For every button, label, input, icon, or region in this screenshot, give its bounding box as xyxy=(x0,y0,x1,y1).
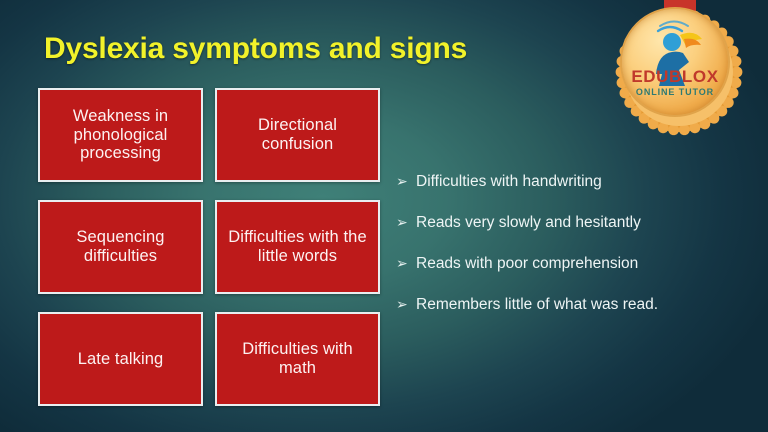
list-item: ➢ Difficulties with handwriting xyxy=(396,170,746,194)
symptom-box-label: Difficulties with math xyxy=(223,340,372,378)
badge-face: EDUBLOX ONLINE TUTOR xyxy=(620,7,730,117)
symptom-box-label: Late talking xyxy=(78,350,164,369)
symptom-box[interactable]: Sequencing difficulties xyxy=(38,200,203,294)
list-item-label: Reads very slowly and hesitantly xyxy=(416,211,746,235)
symptom-box[interactable]: Difficulties with math xyxy=(215,312,380,406)
logo-tagline: ONLINE TUTOR xyxy=(622,87,728,97)
symptom-box-grid: Weakness in phonological processing Dire… xyxy=(38,88,380,404)
list-item-label: Reads with poor comprehension xyxy=(416,252,746,276)
symptom-box[interactable]: Directional confusion xyxy=(215,88,380,182)
symptom-box-label: Directional confusion xyxy=(223,116,372,154)
list-item: ➢ Remembers little of what was read. xyxy=(396,293,746,317)
symptom-box[interactable]: Weakness in phonological processing xyxy=(38,88,203,182)
student-figure-icon xyxy=(622,9,728,115)
arrowhead-bullet-icon: ➢ xyxy=(396,252,412,274)
slide-title: Dyslexia symptoms and signs xyxy=(44,32,467,66)
logo-brand-name: EDUBLOX xyxy=(622,67,728,87)
list-item-label: Difficulties with handwriting xyxy=(416,170,746,194)
presentation-slide: Dyslexia symptoms and signs Weakness in … xyxy=(0,0,768,432)
arrowhead-bullet-icon: ➢ xyxy=(396,211,412,233)
arrowhead-bullet-icon: ➢ xyxy=(396,170,412,192)
symptom-box[interactable]: Difficulties with the little words xyxy=(215,200,380,294)
symptom-box-label: Sequencing difficulties xyxy=(46,228,195,266)
symptom-box[interactable]: Late talking xyxy=(38,312,203,406)
list-item: ➢ Reads very slowly and hesitantly xyxy=(396,211,746,235)
arrowhead-bullet-icon: ➢ xyxy=(396,293,412,315)
symptom-box-label: Difficulties with the little words xyxy=(223,228,372,266)
symptom-box-label: Weakness in phonological processing xyxy=(46,107,195,163)
edublox-logo[interactable]: EDUBLOX ONLINE TUTOR xyxy=(607,0,751,138)
list-item-label: Remembers little of what was read. xyxy=(416,293,746,317)
symptom-bullet-list: ➢ Difficulties with handwriting ➢ Reads … xyxy=(396,170,746,334)
list-item: ➢ Reads with poor comprehension xyxy=(396,252,746,276)
